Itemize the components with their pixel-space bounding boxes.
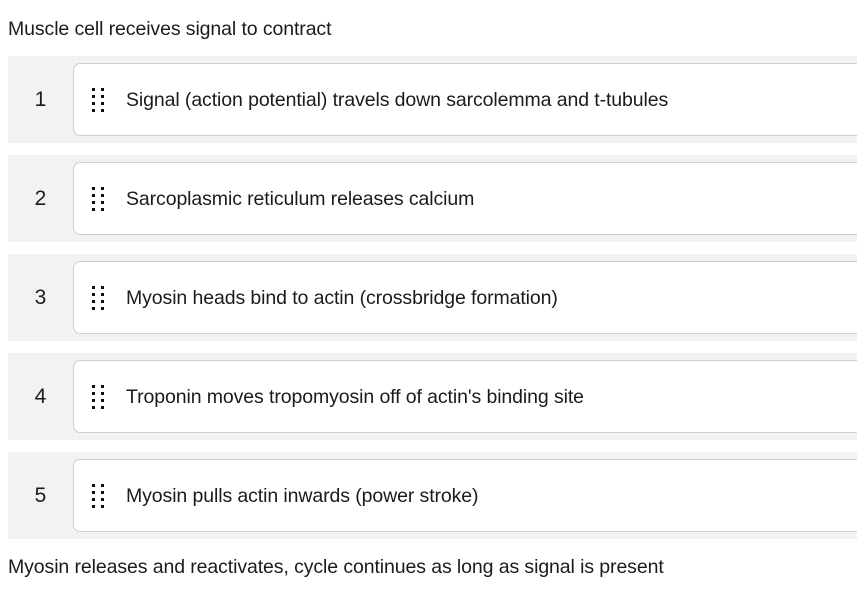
ordering-card[interactable]: Sarcoplasmic reticulum releases calcium: [73, 162, 857, 235]
ordering-card-label: Troponin moves tropomyosin off of actin'…: [126, 384, 584, 410]
ordering-card-label: Signal (action potential) travels down s…: [126, 87, 668, 113]
ordering-card[interactable]: Myosin pulls actin inwards (power stroke…: [73, 459, 857, 532]
drag-handle-dots-icon[interactable]: [90, 87, 105, 113]
ordering-exercise-page: Muscle cell receives signal to contract …: [0, 0, 857, 601]
drag-handle-dots-icon[interactable]: [90, 186, 105, 212]
ordering-list: 1 Signal (action potential) travels down…: [0, 56, 857, 551]
list-item[interactable]: 4 Troponin moves tropomyosin off of acti…: [8, 353, 857, 440]
row-number: 3: [8, 254, 73, 341]
closing-statement: Myosin releases and reactivates, cycle c…: [8, 553, 664, 581]
list-item[interactable]: 2 Sarcoplasmic reticulum releases calciu…: [8, 155, 857, 242]
row-number: 5: [8, 452, 73, 539]
ordering-card-label: Myosin heads bind to actin (crossbridge …: [126, 285, 558, 311]
ordering-card-label: Sarcoplasmic reticulum releases calcium: [126, 186, 474, 212]
row-number: 2: [8, 155, 73, 242]
ordering-card[interactable]: Troponin moves tropomyosin off of actin'…: [73, 360, 857, 433]
row-number: 4: [8, 353, 73, 440]
drag-handle-dots-icon[interactable]: [90, 384, 105, 410]
list-item[interactable]: 3 Myosin heads bind to actin (crossbridg…: [8, 254, 857, 341]
ordering-card[interactable]: Myosin heads bind to actin (crossbridge …: [73, 261, 857, 334]
drag-handle-dots-icon[interactable]: [90, 285, 105, 311]
list-item[interactable]: 1 Signal (action potential) travels down…: [8, 56, 857, 143]
drag-handle-dots-icon[interactable]: [90, 483, 105, 509]
list-item[interactable]: 5 Myosin pulls actin inwards (power stro…: [8, 452, 857, 539]
ordering-card-label: Myosin pulls actin inwards (power stroke…: [126, 483, 478, 509]
ordering-card[interactable]: Signal (action potential) travels down s…: [73, 63, 857, 136]
row-number: 1: [8, 56, 73, 143]
page-title: Muscle cell receives signal to contract: [8, 15, 331, 43]
